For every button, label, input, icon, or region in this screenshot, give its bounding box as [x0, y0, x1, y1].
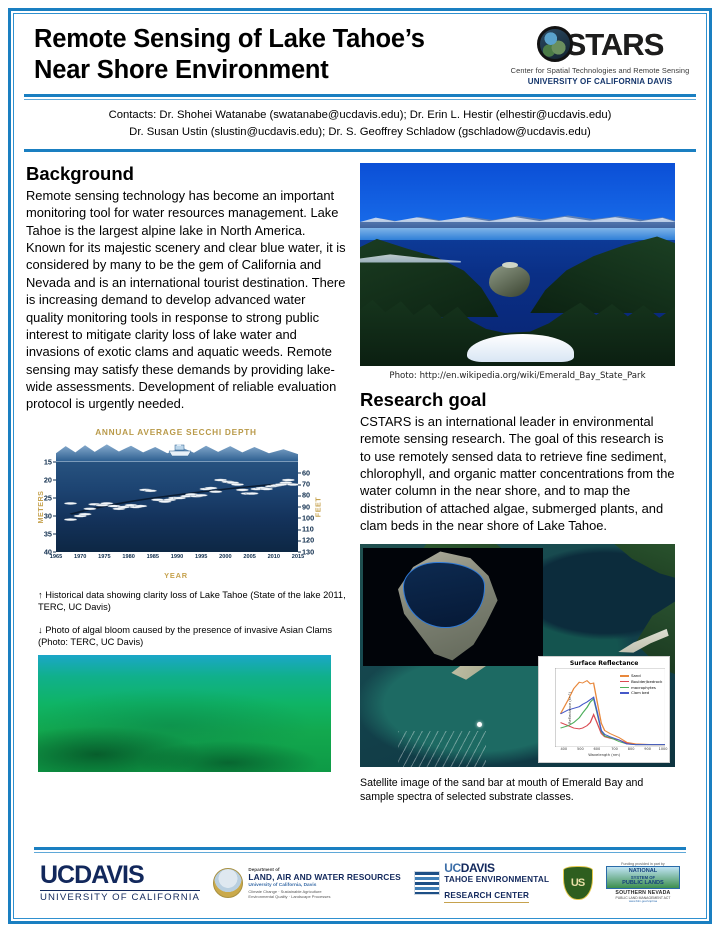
- secchi-chart-title: ANNUAL AVERAGE SECCHI DEPTH: [26, 427, 326, 437]
- research-goal-heading: Research goal: [360, 389, 675, 411]
- secchi-y-axis-label: METERS: [36, 490, 45, 523]
- terc-line-1: TAHOE ENVIRONMENTAL: [444, 875, 549, 885]
- secchi-x-axis: 1965 1970 1975 1980 1985 1990 1995 2000 …: [56, 552, 298, 566]
- emerald-bay-inset-map: [363, 548, 543, 666]
- lawr-name: LAND, AIR AND WATER RESOURCES: [248, 872, 400, 883]
- terc-davis: DAVIS: [461, 861, 495, 875]
- snplma-logo: Funding provided in part by NATIONAL SYS…: [606, 862, 680, 904]
- cstars-logo-text: STARS: [566, 29, 664, 60]
- legend-swatch: [620, 681, 629, 682]
- cstars-logo: STARS Center for Spatial Technologies an…: [510, 24, 690, 86]
- legend-swatch: [620, 692, 629, 693]
- legend-item: Clam bed: [620, 690, 662, 696]
- bay-photo-credit: Photo: http://en.wikipedia.org/wiki/Emer…: [360, 371, 675, 381]
- terc-uc: UC: [444, 861, 461, 875]
- usfs-shield-icon: US: [563, 866, 593, 900]
- emerald-bay-photo: [360, 163, 675, 366]
- x-tick: 600: [594, 747, 601, 751]
- y-tick: 20: [44, 475, 52, 484]
- satellite-image: Surface Reflectance Reflectance (sr⁻¹): [360, 544, 675, 767]
- terc-wave-icon: [414, 871, 440, 895]
- legend-swatch: [620, 675, 629, 676]
- x-tick: 800: [628, 747, 635, 751]
- x-tick: 1980: [122, 554, 134, 560]
- cstars-institution: UNIVERSITY OF CALIFORNIA DAVIS: [510, 77, 690, 86]
- x-tick: 1985: [147, 554, 159, 560]
- page-title: Remote Sensing of Lake Tahoe’s Near Shor…: [34, 24, 425, 87]
- ucdavis-subtitle: UNIVERSITY OF CALIFORNIA: [40, 890, 200, 903]
- x-tick: 1970: [74, 554, 86, 560]
- poster-content: Remote Sensing of Lake Tahoe’s Near Shor…: [22, 20, 698, 912]
- x-tick: 1995: [195, 554, 207, 560]
- contacts-line-1: Contacts: Dr. Shohei Watanabe (swatanabe…: [22, 107, 698, 124]
- terc-line-2: RESEARCH CENTER: [444, 891, 529, 903]
- x-tick: 700: [611, 747, 618, 751]
- spectra-legend: Sand Boulder/bedrock macrophytes Clam be…: [620, 673, 662, 696]
- cstars-wordmark: STARS: [510, 26, 690, 62]
- secchi-data-points: [56, 462, 298, 552]
- x-tick: 1000: [659, 747, 668, 751]
- x-tick: 500: [577, 747, 584, 751]
- title-line-2: Near Shore Environment: [34, 55, 425, 86]
- surface-reflectance-chart: Surface Reflectance Reflectance (sr⁻¹): [538, 656, 670, 763]
- research-boat-icon: [167, 444, 193, 457]
- secchi-caption: ↑ Historical data showing clarity loss o…: [38, 589, 346, 614]
- algae-caption: ↓ Photo of algal bloom caused by the pre…: [38, 624, 346, 649]
- snplma-url: www.blm.gov/snplma: [606, 900, 680, 904]
- photo-far-water: [360, 228, 675, 240]
- x-tick: 2010: [268, 554, 280, 560]
- y-tick: 35: [44, 529, 52, 538]
- y2-tick: 100: [302, 513, 314, 522]
- header-rule-thin: [24, 99, 696, 101]
- y-tick: 25: [44, 493, 52, 502]
- terc-logo: UCDAVIS TAHOE ENVIRONMENTAL RESEARCH CEN…: [414, 861, 549, 904]
- contacts-block: Contacts: Dr. Shohei Watanabe (swatanabe…: [22, 106, 698, 144]
- poster-footer: UCDAVIS UNIVERSITY OF CALIFORNIA Departm…: [26, 847, 694, 910]
- poster-body: Background Remote sensing technology has…: [22, 163, 698, 804]
- secchi-x-axis-label: YEAR: [26, 571, 326, 580]
- ucdavis-logo: UCDAVIS UNIVERSITY OF CALIFORNIA: [40, 863, 200, 903]
- spectra-x-axis-label: Wavelength (nm): [542, 753, 666, 757]
- x-tick: 1990: [171, 554, 183, 560]
- y2-tick: 120: [302, 536, 314, 545]
- left-column: Background Remote sensing technology has…: [26, 163, 346, 804]
- x-tick: 400: [560, 747, 567, 751]
- background-text: Remote sensing technology has become an …: [26, 187, 346, 412]
- fannette-island-peak: [502, 262, 518, 268]
- snplma-badge-3: PUBLIC LANDS: [609, 880, 677, 887]
- fannette-island: [489, 265, 530, 297]
- satellite-boat: [477, 722, 482, 727]
- lawr-seal-icon: [213, 868, 243, 898]
- ucdavis-davis: DAVIS: [74, 861, 144, 889]
- secchi-y-axis-feet: 60 70 80 90 100 110 120 130 FEET: [298, 462, 326, 552]
- lawr-logo: Department of LAND, AIR AND WATER RESOUR…: [213, 867, 400, 899]
- footer-rule-thick: [34, 847, 686, 850]
- algal-bloom-photo: [38, 655, 331, 772]
- photo-sky: [360, 163, 675, 222]
- footer-logos: UCDAVIS UNIVERSITY OF CALIFORNIA Departm…: [26, 853, 694, 910]
- y2-tick: 70: [302, 480, 310, 489]
- secchi-chart-area: 15 20 25 30 35 40 METERS: [26, 440, 326, 570]
- y2-tick: 110: [302, 525, 314, 534]
- contacts-rule: [24, 149, 696, 152]
- y2-tick: 80: [302, 491, 310, 500]
- y-tick: 15: [44, 457, 52, 466]
- x-tick: 1965: [50, 554, 62, 560]
- background-heading: Background: [26, 163, 346, 185]
- secchi-plot-region: [56, 462, 298, 552]
- cstars-tagline: Center for Spatial Technologies and Remo…: [510, 66, 690, 75]
- y-tick: 30: [44, 511, 52, 520]
- secchi-y-axis-meters: 15 20 25 30 35 40 METERS: [26, 462, 56, 552]
- lawr-text: Department of LAND, AIR AND WATER RESOUR…: [248, 867, 400, 899]
- ucdavis-uc: UC: [40, 861, 74, 889]
- satellite-boat-wake: [398, 731, 486, 767]
- terc-text: UCDAVIS TAHOE ENVIRONMENTAL RESEARCH CEN…: [444, 861, 549, 904]
- spectra-plot-region: Reflectance (sr⁻¹) Sand Boulder/bedroc: [555, 668, 665, 747]
- snplma-badge: NATIONAL SYSTEM OF PUBLIC LANDS: [606, 866, 680, 888]
- x-tick: 2015: [292, 554, 304, 560]
- snplma-title-1: SOUTHERN NEVADA: [606, 890, 680, 896]
- snplma-badge-1: NATIONAL: [609, 868, 677, 875]
- x-tick: 1975: [98, 554, 110, 560]
- x-tick: 900: [644, 747, 651, 751]
- ucdavis-wordmark: UCDAVIS: [40, 863, 200, 888]
- x-tick: 2005: [243, 554, 255, 560]
- terc-ucdavis: UCDAVIS: [444, 861, 549, 875]
- globe-icon: [537, 26, 573, 62]
- lawr-tagline-2: Environmental Quality · Landscape Proces…: [248, 894, 400, 899]
- secchi-y2-axis-label: FEET: [313, 496, 322, 516]
- research-goal-text: CSTARS is an international leader in env…: [360, 413, 675, 534]
- usfs-label: US: [571, 877, 584, 889]
- legend-label: Clam bed: [631, 690, 649, 696]
- title-line-1: Remote Sensing of Lake Tahoe’s: [34, 24, 425, 55]
- y2-tick: 60: [302, 468, 310, 477]
- spectra-chart-title: Surface Reflectance: [542, 660, 666, 667]
- y2-tick: 90: [302, 502, 310, 511]
- header-rule-thick: [24, 94, 696, 97]
- spectra-x-ticks: 400 500 600 700 800 900 1000: [555, 747, 665, 752]
- spectra-y-axis-label: Reflectance (sr⁻¹): [568, 692, 572, 724]
- x-tick: 2000: [219, 554, 231, 560]
- contacts-line-2: Dr. Susan Ustin (slustin@ucdavis.edu); D…: [22, 124, 698, 141]
- satellite-caption: Satellite image of the sand bar at mouth…: [360, 776, 675, 804]
- right-column: Photo: http://en.wikipedia.org/wiki/Emer…: [360, 163, 675, 804]
- legend-swatch: [620, 687, 629, 688]
- secchi-depth-chart: ANNUAL AVERAGE SECCHI DEPTH 15 20 25: [26, 427, 326, 580]
- poster-page: Remote Sensing of Lake Tahoe’s Near Shor…: [0, 0, 720, 932]
- poster-header: Remote Sensing of Lake Tahoe’s Near Shor…: [22, 20, 698, 87]
